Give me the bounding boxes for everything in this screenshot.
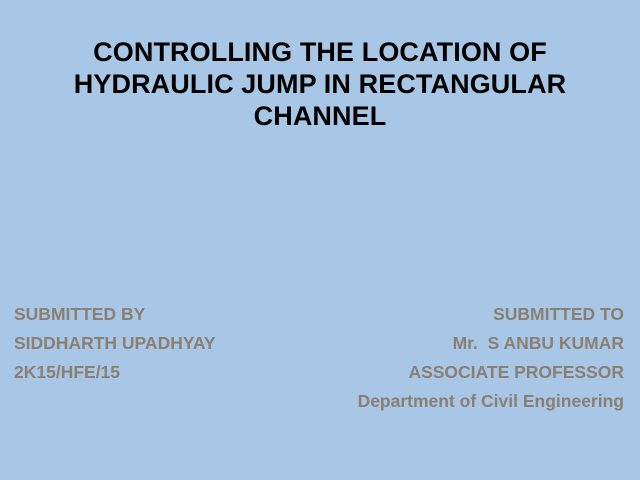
title-line-2: HYDRAULIC JUMP IN RECTANGULAR: [40, 68, 600, 100]
title-line-1: CONTROLLING THE LOCATION OF: [40, 36, 600, 68]
guide-department: Department of Civil Engineering: [204, 387, 624, 416]
guide-name: Mr. S ANBU KUMAR: [204, 329, 624, 358]
guide-designation: ASSOCIATE PROFESSOR: [204, 358, 624, 387]
presentation-slide: CONTROLLING THE LOCATION OF HYDRAULIC JU…: [0, 0, 640, 480]
credits-section: SUBMITTED BY SIDDHARTH UPADHYAY 2K15/HFE…: [0, 300, 640, 460]
title-line-3: CHANNEL: [40, 100, 600, 132]
page-title: CONTROLLING THE LOCATION OF HYDRAULIC JU…: [40, 36, 600, 132]
submitted-to-label: SUBMITTED TO: [204, 300, 624, 329]
submitted-to-column: SUBMITTED TO Mr. S ANBU KUMAR ASSOCIATE …: [204, 300, 624, 416]
